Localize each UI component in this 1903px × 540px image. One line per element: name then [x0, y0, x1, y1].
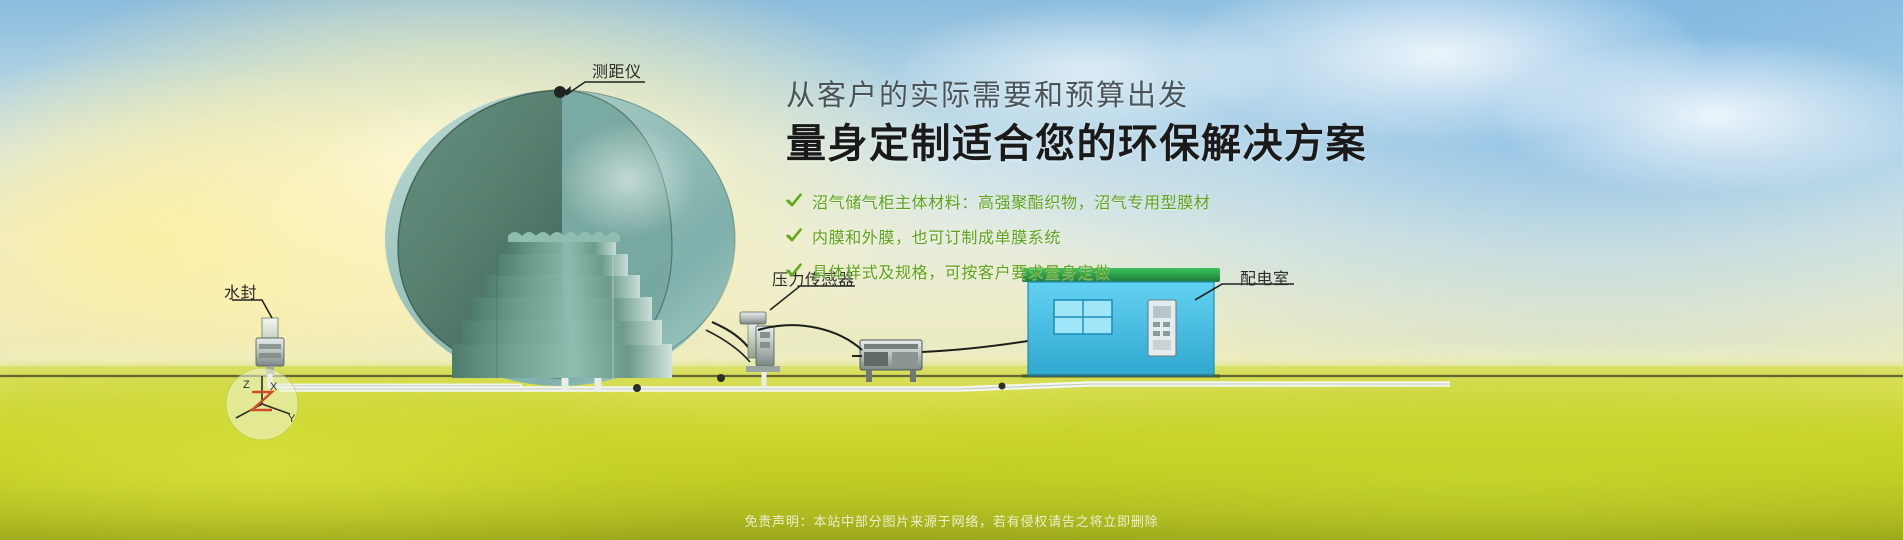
banner-kicker: 从客户的实际需要和预算出发 [786, 78, 1546, 114]
pipe-valve-node [999, 383, 1006, 390]
check-mark-icon [786, 263, 802, 279]
pipe-valve-node [717, 374, 725, 382]
gas-holder-dome [385, 86, 735, 386]
hero-banner: Z X Y 测距仪 水封 压力传感器 配电室 从客户的实际需要和预算出发 量身定… [0, 0, 1903, 540]
callout-label-water-seal: 水封 [224, 279, 257, 303]
pipe-valve-node [633, 384, 641, 392]
bottom-vignette [0, 480, 1903, 540]
marketing-text-panel: 从客户的实际需要和预算出发 量身定制适合您的环保解决方案 沼气储气柜主体材料：高… [786, 78, 1546, 294]
banner-headline: 量身定制适合您的环保解决方案 [786, 120, 1546, 169]
svg-text:Z: Z [243, 379, 250, 391]
feature-bullet-item: 内膜和外膜，也可订制成单膜系统 [786, 224, 1546, 248]
feature-bullet-text: 沼气储气柜主体材料：高强聚酯织物，沼气专用型膜材 [812, 189, 1210, 213]
feature-bullet-text: 具体样式及规格，可按客户要求量身定做 [812, 259, 1111, 283]
svg-text:X: X [270, 381, 278, 393]
feature-bullet-list: 沼气储气柜主体材料：高强聚酯织物，沼气专用型膜材 内膜和外膜，也可订制成单膜系统… [786, 189, 1546, 283]
axis-orientation-widget: Z X Y [226, 368, 298, 440]
feature-bullet-item: 沼气储气柜主体材料：高强聚酯织物，沼气专用型膜材 [786, 189, 1546, 213]
callout-label-rangefinder: 测距仪 [592, 58, 642, 82]
check-mark-icon [786, 193, 802, 209]
feature-bullet-text: 内膜和外膜，也可订制成单膜系统 [812, 224, 1061, 248]
svg-text:Y: Y [288, 413, 296, 425]
disclaimer-text: 免责声明：本站中部分图片来源于网络，若有侵权请告之将立即删除 [0, 511, 1903, 530]
feature-bullet-item: 具体样式及规格，可按客户要求量身定做 [786, 259, 1546, 283]
check-mark-icon [786, 228, 802, 244]
